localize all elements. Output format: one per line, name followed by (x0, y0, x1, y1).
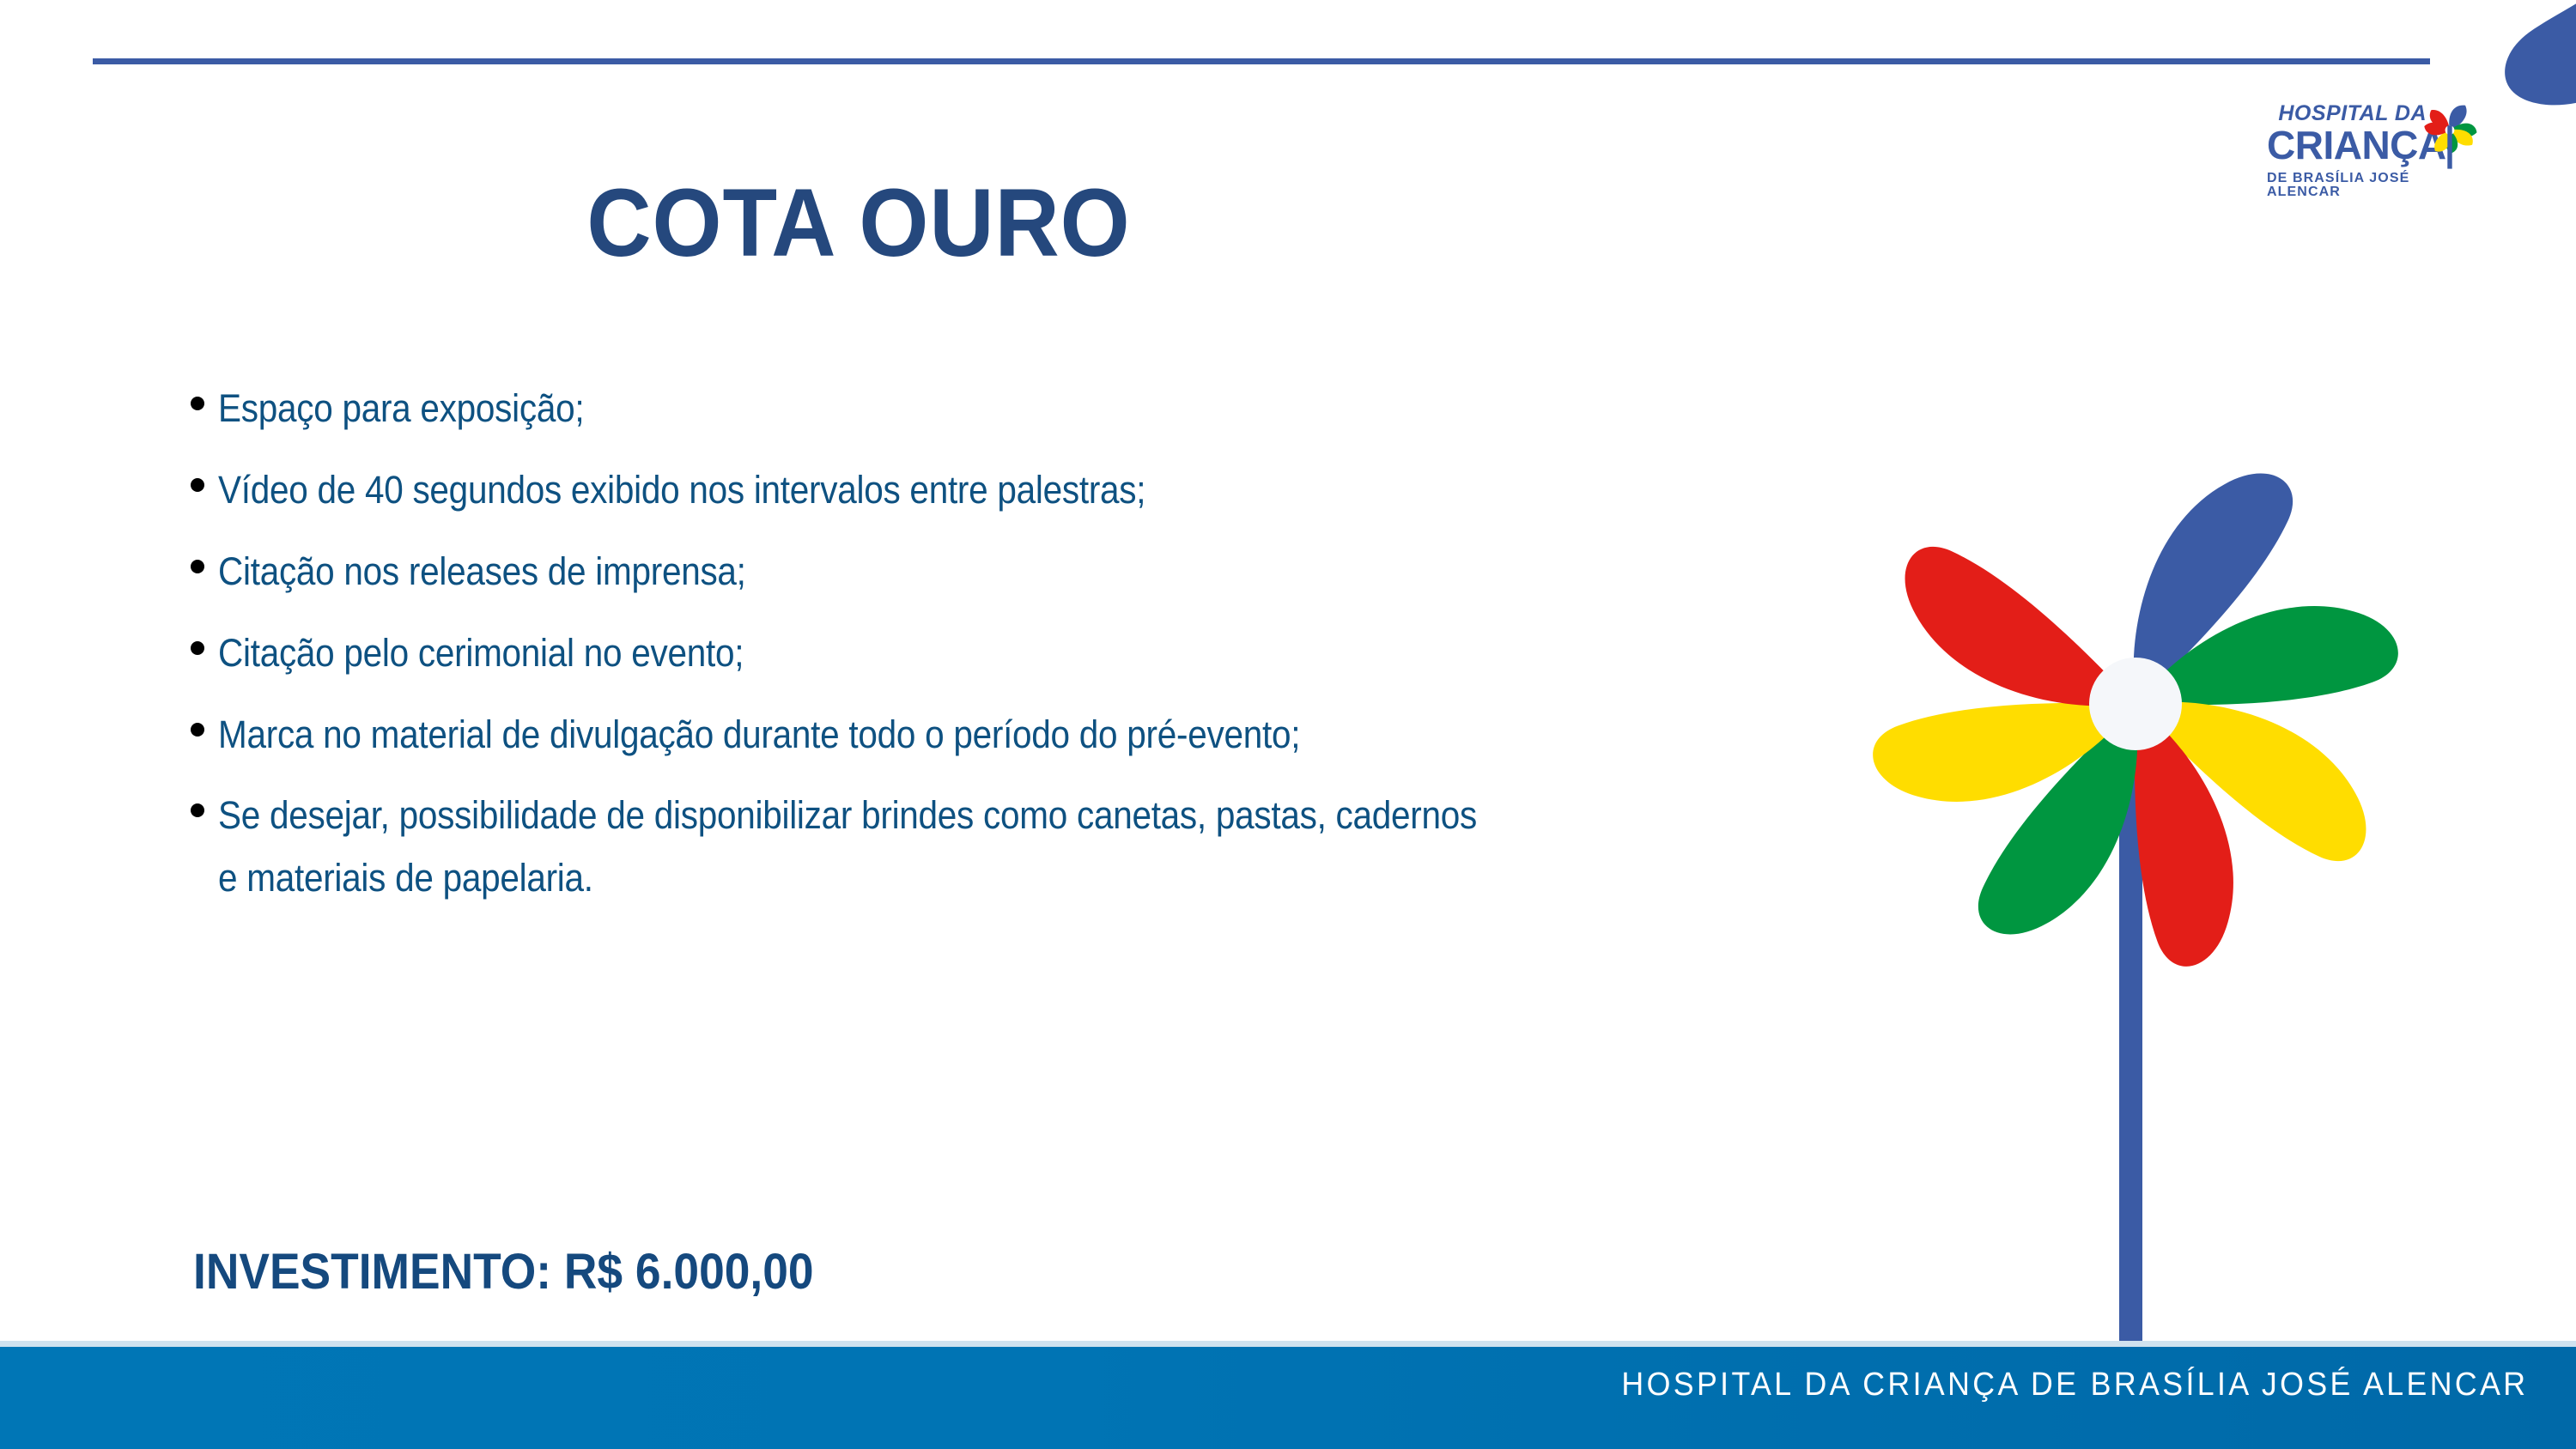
list-item: Vídeo de 40 segundos exibido nos interva… (191, 459, 1633, 522)
list-item-label: Vídeo de 40 segundos exibido nos interva… (218, 459, 1492, 522)
bullet-dot-icon (191, 478, 204, 492)
list-item-label: Citação pelo cerimonial no evento; (218, 622, 1492, 685)
logo-line-hospital-da: HOSPITAL DA (2267, 103, 2430, 124)
page-title: COTA OURO (60, 167, 1657, 278)
bullet-dot-icon (191, 560, 204, 573)
list-item-label: Citação nos releases de imprensa; (218, 541, 1492, 603)
top-rule-divider (93, 58, 2430, 64)
investment-label: INVESTIMENTO: R$ 6.000,00 (193, 1243, 814, 1300)
pinwheel-graphic (1799, 378, 2486, 1064)
list-item-label: Espaço para exposição; (218, 378, 1492, 440)
logo-wordmark: HOSPITAL DA CRIANÇA DE BRASÍLIA JOSÉ ALE… (2267, 103, 2430, 199)
logo-line-crianca: CRIANÇA (2267, 125, 2430, 165)
logo-line-subtitle: DE BRASÍLIA JOSÉ ALENCAR (2267, 172, 2430, 199)
pinwheel-logo-icon (2411, 96, 2488, 173)
slide: HOSPITAL DA CRIANÇA DE BRASÍLIA JOSÉ ALE… (0, 0, 2576, 1449)
footer-top-line (0, 1341, 2576, 1347)
benefits-list: Espaço para exposição; Vídeo de 40 segun… (191, 378, 1633, 929)
pinwheel-hub (2089, 658, 2182, 750)
list-item: Espaço para exposição; (191, 378, 1633, 440)
bullet-dot-icon (191, 641, 204, 655)
bullet-dot-icon (191, 723, 204, 737)
bullet-dot-icon (191, 803, 204, 817)
footer-label: HOSPITAL DA CRIANÇA DE BRASÍLIA JOSÉ ALE… (1621, 1367, 2528, 1404)
footer-bar: HOSPITAL DA CRIANÇA DE BRASÍLIA JOSÉ ALE… (0, 1341, 2576, 1449)
list-item: Marca no material de divulgação durante … (191, 704, 1633, 767)
hospital-logo: HOSPITAL DA CRIANÇA DE BRASÍLIA JOSÉ ALE… (2267, 103, 2482, 215)
list-item-label: Se desejar, possibilidade de disponibili… (218, 785, 1492, 910)
bullet-dot-icon (191, 397, 204, 410)
list-item: Citação pelo cerimonial no evento; (191, 622, 1633, 685)
list-item-label: Marca no material de divulgação durante … (218, 704, 1492, 767)
list-item: Se desejar, possibilidade de disponibili… (191, 785, 1633, 910)
list-item: Citação nos releases de imprensa; (191, 541, 1633, 603)
